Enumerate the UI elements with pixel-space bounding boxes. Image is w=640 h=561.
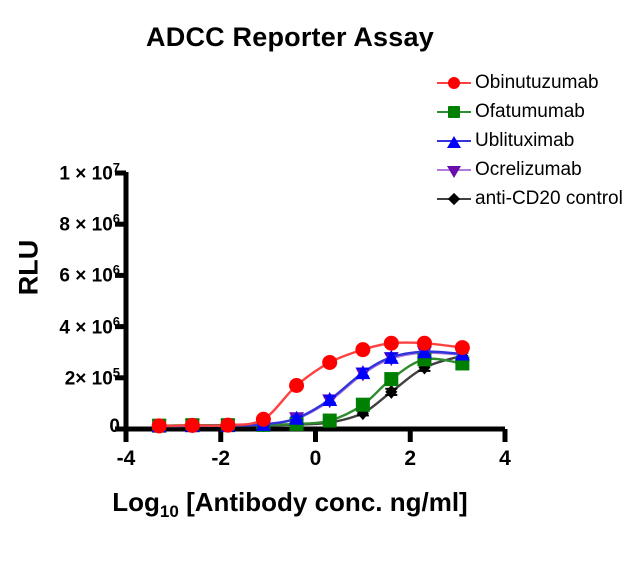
x-tick-label: 0 [291, 447, 341, 471]
data-point [355, 342, 370, 357]
data-point [385, 385, 397, 399]
data-point [152, 418, 167, 433]
data-point [256, 412, 271, 427]
data-point [322, 355, 337, 370]
data-point [455, 340, 470, 355]
series-ofatumumab [152, 352, 469, 432]
data-point [185, 418, 200, 433]
x-tick-label: -2 [196, 447, 246, 471]
series-ublituximab [152, 344, 470, 432]
chart-figure: ADCC Reporter Assay ObinutuzumabOfatumum… [0, 0, 640, 561]
x-tick-label: -4 [101, 447, 151, 471]
data-point [220, 418, 235, 433]
data-point [384, 336, 399, 351]
x-tick-label: 2 [385, 447, 435, 471]
x-tick-label: 4 [480, 447, 530, 471]
plot-area [0, 0, 640, 561]
data-point [289, 378, 304, 393]
data-point [323, 414, 337, 428]
axes [115, 172, 505, 442]
data-point [356, 398, 370, 412]
data-point [355, 365, 370, 379]
data-point [417, 336, 432, 351]
data-point [384, 372, 398, 386]
